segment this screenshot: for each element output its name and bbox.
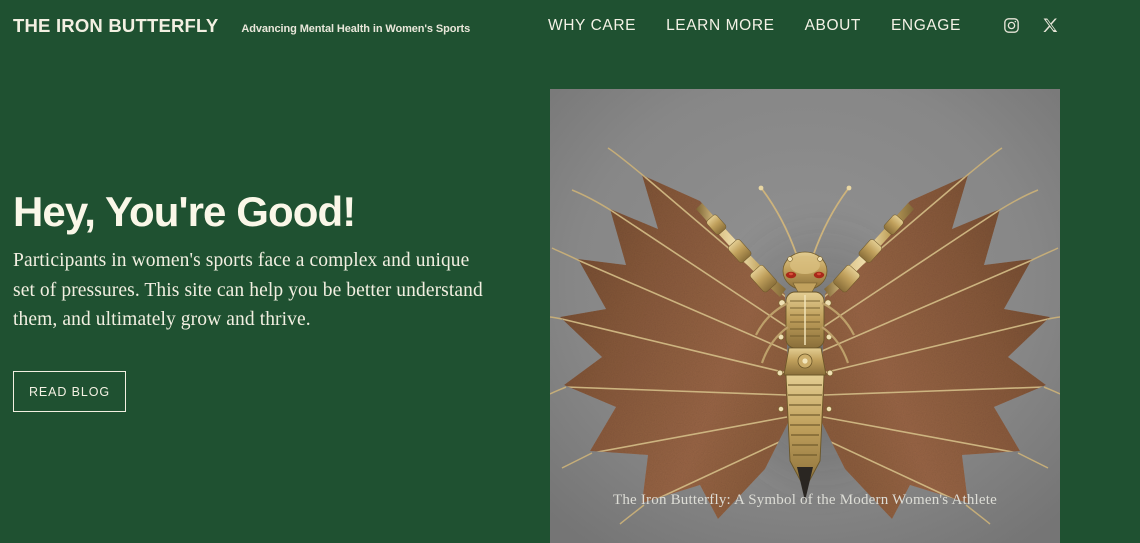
brand-title: THE IRON BUTTERFLY (13, 15, 218, 37)
butterfly-thorax (786, 292, 824, 348)
butterfly-image (550, 89, 1060, 543)
nav-item-engage[interactable]: ENGAGE (891, 17, 961, 35)
instagram-icon[interactable] (1003, 17, 1020, 34)
brand-tagline: Advancing Mental Health in Women's Sport… (241, 23, 470, 35)
site-header: THE IRON BUTTERFLY Advancing Mental Heal… (0, 0, 1140, 52)
main-nav: WHY CARE LEARN MORE ABOUT ENGAGE (548, 17, 961, 35)
read-blog-button[interactable]: READ BLOG (13, 371, 126, 412)
hero-paragraph: Participants in women's sports face a co… (13, 246, 493, 335)
hero-image-panel: The Iron Butterfly: A Symbol of the Mode… (550, 89, 1060, 543)
nav-item-about[interactable]: ABOUT (805, 17, 861, 35)
brand-block[interactable]: THE IRON BUTTERFLY Advancing Mental Heal… (0, 15, 470, 37)
social-links (1003, 17, 1059, 34)
hero-heading: Hey, You're Good! (13, 190, 513, 234)
image-caption: The Iron Butterfly: A Symbol of the Mode… (550, 492, 1060, 509)
hero-content: Hey, You're Good! Participants in women'… (13, 190, 513, 335)
butterfly-joint (784, 348, 826, 375)
nav-item-learn-more[interactable]: LEARN MORE (666, 17, 775, 35)
x-twitter-icon[interactable] (1042, 17, 1059, 34)
nav-item-why-care[interactable]: WHY CARE (548, 17, 636, 35)
